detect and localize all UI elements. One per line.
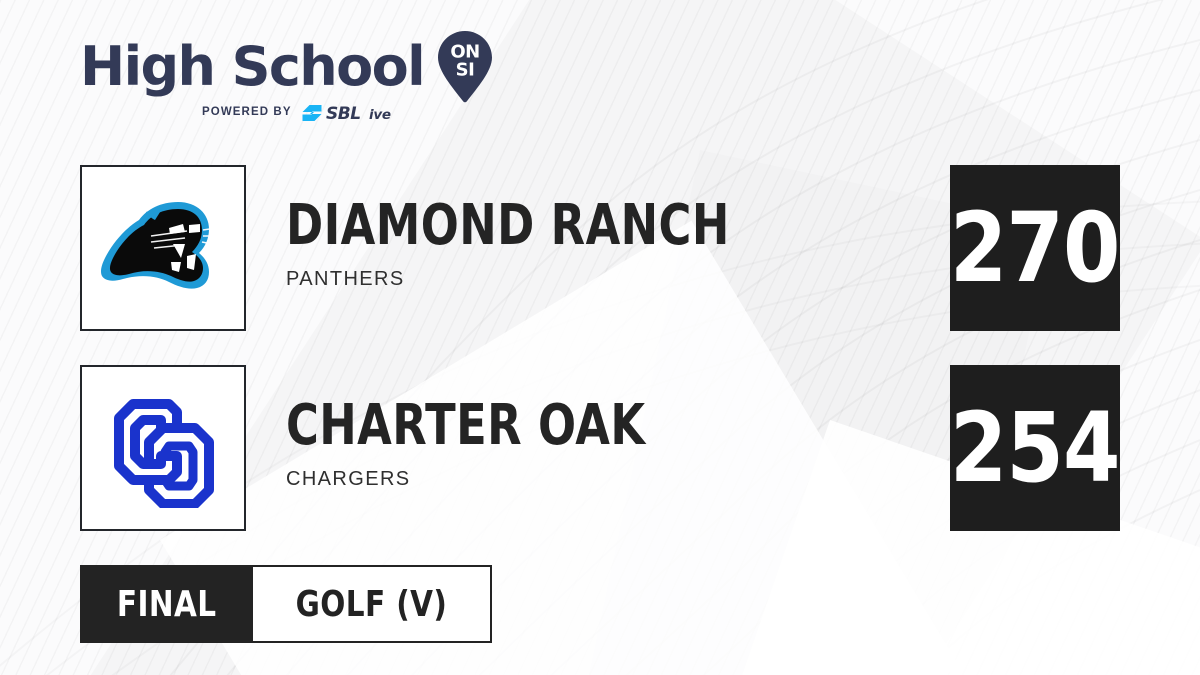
svg-text:SBL: SBL xyxy=(326,104,361,122)
sblive-s-mark-icon xyxy=(301,104,323,122)
team-row: DIAMOND RANCH PANTHERS 270 xyxy=(0,165,1200,335)
team-text-block: CHARTER OAK CHARGERS xyxy=(286,399,926,491)
sblive-wordmark-icon: SBL ive xyxy=(326,104,412,122)
team-row: CHARTER OAK CHARGERS 254 xyxy=(0,365,1200,535)
team-score-value: 254 xyxy=(950,400,1120,496)
sport-badge: GOLF (V) xyxy=(253,565,492,643)
brand-wordmark: High School xyxy=(80,40,424,94)
game-status-bar: FINAL GOLF (V) xyxy=(80,565,492,643)
svg-text:SI: SI xyxy=(456,60,475,81)
team-score-value: 270 xyxy=(950,200,1120,296)
team-mascot-name: CHARGERS xyxy=(286,468,926,491)
game-state-badge: FINAL xyxy=(80,565,253,643)
charter-oak-co-monogram-logo-icon xyxy=(103,388,223,508)
scoreboard-graphic: High School ON SI POWERED BY SBL ive xyxy=(0,0,1200,675)
brand-title-row: High School ON SI xyxy=(80,34,510,100)
team-mascot-name: PANTHERS xyxy=(286,268,926,291)
powered-by-row: POWERED BY SBL ive xyxy=(202,102,510,124)
game-state-label: FINAL xyxy=(117,584,217,625)
team-text-block: DIAMOND RANCH PANTHERS xyxy=(286,199,926,291)
high-school-on-si-brand-lockup: High School ON SI POWERED BY SBL ive xyxy=(80,34,510,134)
powered-by-label: POWERED BY xyxy=(202,107,292,119)
svg-text:ive: ive xyxy=(369,107,391,122)
team-score-box: 270 xyxy=(950,165,1120,331)
team-school-name: DIAMOND RANCH xyxy=(286,199,798,254)
sport-label: GOLF (V) xyxy=(296,584,448,625)
panther-head-logo-icon xyxy=(93,178,233,318)
team-logo-box xyxy=(80,365,246,531)
team-school-name: CHARTER OAK xyxy=(286,399,798,454)
team-logo-box xyxy=(80,165,246,331)
team-score-box: 254 xyxy=(950,365,1120,531)
sblive-logo: SBL ive xyxy=(301,104,412,122)
on-si-pin-icon: ON SI xyxy=(436,30,494,104)
